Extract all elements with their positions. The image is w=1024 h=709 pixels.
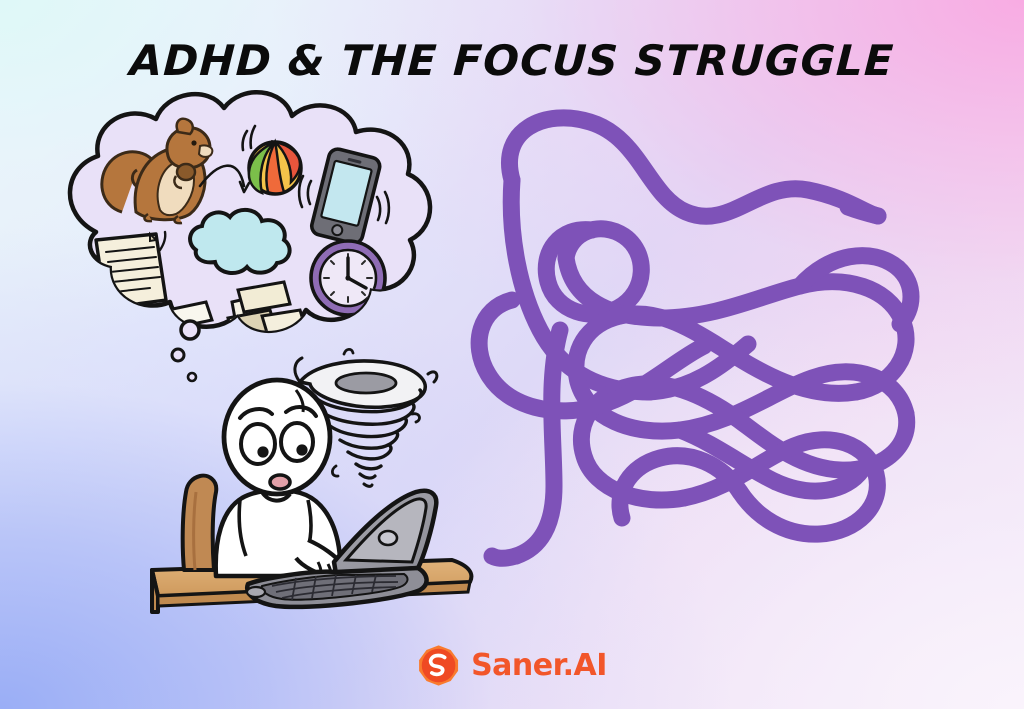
desk-graphic [152,560,471,612]
thought-bubble-trail [172,321,199,381]
page-title: ADHD & THE FOCUS STRUGGLE [0,36,1024,85]
scattered-papers-icon [157,282,306,338]
character-graphic [216,380,347,580]
squirrel-icon [102,119,213,223]
thought-bubble [70,92,430,338]
brand-name: Saner.AI [471,651,607,681]
tangled-string-graphic [479,118,911,558]
smartphone-icon [299,147,389,245]
tornado-icon [295,349,437,486]
poster-canvas: ADHD & THE FOCUS STRUGGLE [0,0,1024,709]
bounce-arrow-icon [200,166,249,192]
illustration-layer [0,0,1024,709]
beach-ball-icon [243,126,301,194]
saner-logo-mark [417,644,460,687]
wall-clock-icon [311,241,385,315]
chair-graphic [183,476,217,570]
brand-logo[interactable]: Saner.AI [417,644,607,687]
laptop-graphic [247,491,436,607]
daydream-cloud-icon [190,210,290,273]
document-icon [95,232,166,308]
